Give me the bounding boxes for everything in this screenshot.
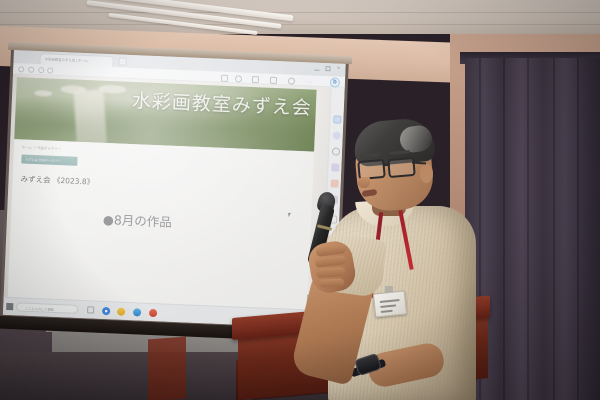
browser-tab-label: 水彩画教室みずえ会 | ホーム	[45, 56, 89, 63]
forward-arrow-icon[interactable]	[28, 67, 34, 73]
glasses-icon	[387, 157, 416, 178]
mail-icon[interactable]	[117, 308, 125, 316]
projected-desktop: ✕ 水彩画教室みずえ会 | ホーム https://www.mizue-kai.…	[3, 50, 346, 329]
nose	[358, 177, 370, 188]
favorite-star-icon[interactable]	[235, 75, 242, 82]
site-banner-title: 水彩画教室みずえ会	[131, 86, 312, 121]
section-heading: ●8月の作品	[103, 209, 173, 231]
banner-stone-decor	[60, 85, 86, 94]
window-maximize-icon[interactable]	[325, 66, 330, 71]
more-options-icon[interactable]: ···	[306, 79, 313, 85]
taskbar-search-placeholder: ここに入力して検索	[25, 305, 54, 311]
ceiling-seam	[0, 12, 600, 13]
mouse-cursor-icon	[288, 212, 294, 217]
edge-icon[interactable]	[133, 308, 141, 316]
home-icon[interactable]	[47, 67, 53, 73]
taskbar-search-input[interactable]: ここに入力して検索	[16, 302, 78, 314]
projection-screen: ✕ 水彩画教室みずえ会 | ホーム https://www.mizue-kai.…	[2, 50, 346, 352]
collections-icon[interactable]	[252, 75, 259, 82]
site-page-body: ホーム ＞ 作品ギャラリー みずえ会 作品ギャラリー みずえ会 《2023.8》…	[8, 139, 314, 309]
windows-start-icon[interactable]	[6, 303, 13, 310]
reload-icon[interactable]	[38, 67, 44, 73]
side-table	[148, 337, 186, 400]
presenter	[300, 120, 500, 400]
browser-essentials-icon[interactable]	[270, 76, 277, 83]
new-tab-button[interactable]	[118, 57, 126, 65]
task-view-icon[interactable]	[87, 306, 94, 313]
ear	[420, 164, 433, 183]
screenshot-scene: ✕ 水彩画教室みずえ会 | ホーム https://www.mizue-kai.…	[0, 0, 600, 400]
banner-path-decor	[73, 89, 106, 147]
gallery-nav-button-label: みずえ会 作品ギャラリー	[25, 157, 60, 163]
page-title: みずえ会 《2023.8》	[20, 173, 94, 187]
breadcrumb: ホーム ＞ 作品ギャラリー	[22, 144, 61, 151]
profile-icon[interactable]	[288, 77, 295, 84]
gallery-nav-button[interactable]: みずえ会 作品ギャラリー	[21, 154, 77, 165]
banner-stone-decor	[34, 90, 52, 97]
window-close-icon[interactable]: ✕	[336, 67, 341, 72]
name-badge	[373, 290, 407, 317]
chrome-icon[interactable]	[102, 307, 110, 315]
finger	[319, 278, 344, 287]
ceiling-seam	[0, 24, 600, 25]
office-icon[interactable]	[149, 309, 157, 317]
window-minimize-icon[interactable]	[314, 66, 319, 71]
back-arrow-icon[interactable]	[18, 66, 24, 72]
split-screen-icon[interactable]	[221, 74, 228, 81]
